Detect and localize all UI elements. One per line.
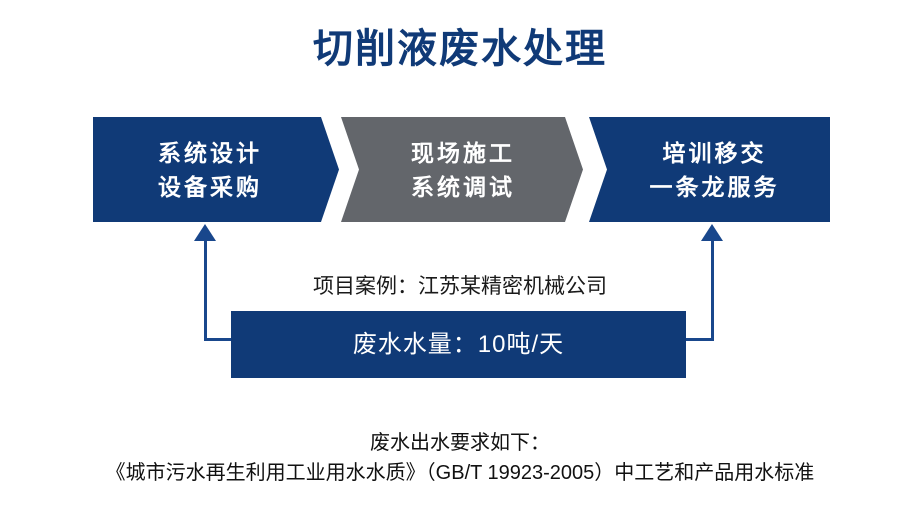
step-2-line-1: 现场施工 xyxy=(411,136,515,170)
step-3-line-1: 培训移交 xyxy=(650,136,780,170)
process-flow: 系统设计 设备采购 现场施工 系统调试 培训移交 一条龙服务 xyxy=(0,117,920,222)
process-step-training-handover[interactable]: 培训移交 一条龙服务 xyxy=(589,117,830,222)
process-step-construction-commissioning[interactable]: 现场施工 系统调试 xyxy=(341,117,583,222)
step-3-line-2: 一条龙服务 xyxy=(650,170,780,204)
wastewater-volume-label: 废水水量：10吨/天 xyxy=(353,328,564,362)
process-step-design-procurement[interactable]: 系统设计 设备采购 xyxy=(93,117,339,222)
page-title: 切削液废水处理 xyxy=(0,24,920,74)
footer-line-1: 废水出水要求如下： xyxy=(0,428,920,458)
footer-note: 废水出水要求如下： 《城市污水再生利用工业用水水质》（GB/T 19923-20… xyxy=(0,428,920,488)
right-connector-horizontal xyxy=(683,338,714,341)
wastewater-volume-bar: 废水水量：10吨/天 xyxy=(231,311,686,378)
step-3-text-group: 培训移交 一条龙服务 xyxy=(650,136,780,204)
step-1-text-group: 系统设计 设备采购 xyxy=(158,136,262,204)
step-1-line-1: 系统设计 xyxy=(158,136,262,170)
left-arrow-head-icon xyxy=(194,224,216,241)
case-caption: 项目案例：江苏某精密机械公司 xyxy=(0,272,920,302)
right-arrow-head-icon xyxy=(701,224,723,241)
left-connector-horizontal xyxy=(204,338,234,341)
step-2-text-group: 现场施工 系统调试 xyxy=(411,136,515,204)
step-1-line-2: 设备采购 xyxy=(158,170,262,204)
footer-line-2: 《城市污水再生利用工业用水水质》（GB/T 19923-2005）中工艺和产品用… xyxy=(0,458,920,488)
slide-canvas: 切削液废水处理 系统设计 设备采购 现场施工 系统调试 培训移交 一条龙服务 项… xyxy=(0,0,920,517)
step-2-line-2: 系统调试 xyxy=(411,170,515,204)
